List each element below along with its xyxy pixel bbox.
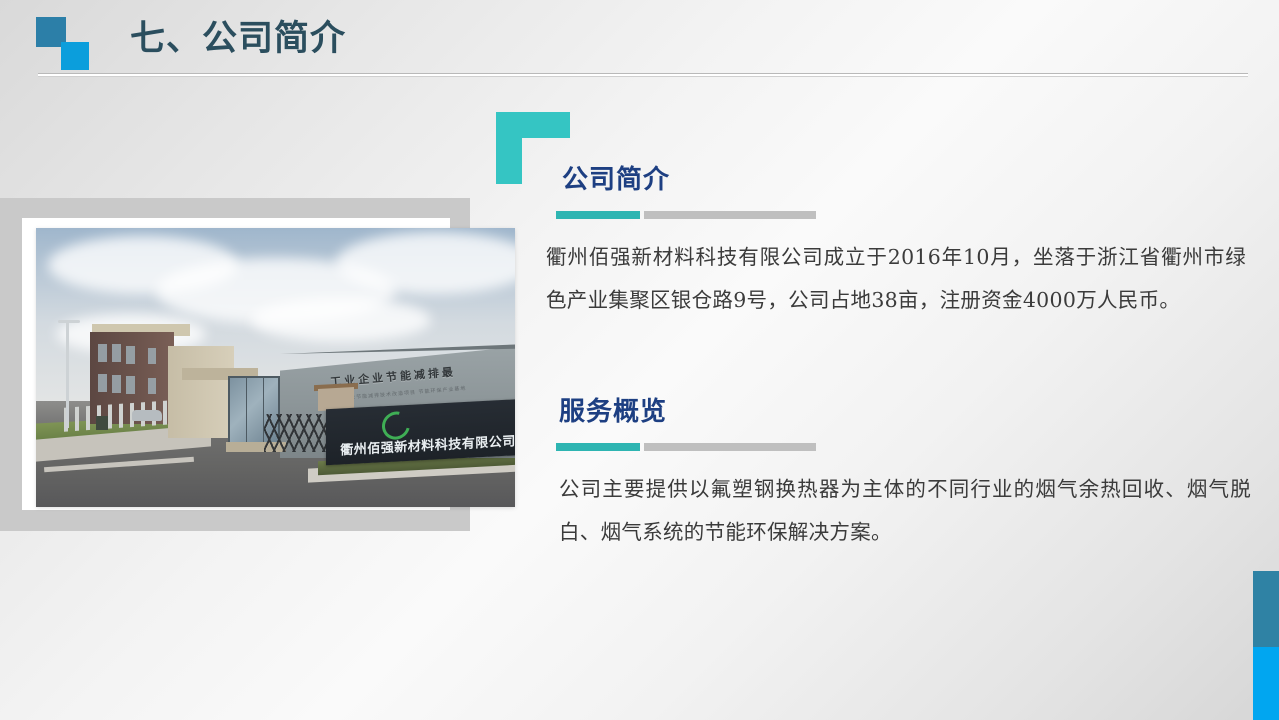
factory-photo: 工业企业节能减排最 工业企业节能减排技术改造项目 节能环保产业基地 衢州佰强新材… xyxy=(36,228,515,507)
divider-segment-teal xyxy=(556,443,640,451)
photo-window xyxy=(98,344,107,362)
photo-stone-facade xyxy=(168,346,234,438)
slide-canvas: 七、公司简介 工业企业节能减排最 工业企业节能减排技术改造项目 节能环保产业基地 xyxy=(0,0,1279,720)
photo-window xyxy=(148,378,156,394)
photo-window xyxy=(126,346,135,364)
divider-segment-teal xyxy=(556,211,640,219)
corner-bracket-vertical-icon xyxy=(496,112,522,184)
section-heading-company-profile: 公司简介 xyxy=(562,159,670,196)
photo-window xyxy=(148,348,156,364)
divider-segment-gray xyxy=(644,443,816,451)
photo-window xyxy=(112,344,121,362)
photo-bin xyxy=(96,416,108,430)
photo-sign-text: 衢州佰强新材料科技有限公司 xyxy=(336,430,515,459)
photo-window xyxy=(112,375,121,393)
header-square-bright-icon xyxy=(61,42,89,70)
photo-light-pole xyxy=(66,322,69,428)
header-divider-rule xyxy=(38,73,1248,77)
section-divider-2 xyxy=(556,443,816,451)
photo-sliding-gate xyxy=(264,414,334,452)
photo-cloud xyxy=(251,298,431,342)
photo-window xyxy=(98,374,107,392)
section-divider-1 xyxy=(556,211,816,219)
section-body-company-profile: 衢州佰强新材料科技有限公司成立于2016年10月，坐落于浙江省衢州市绿色产业集聚… xyxy=(546,236,1246,322)
accent-block-dark xyxy=(1253,571,1279,647)
photo-company-sign: 衢州佰强新材料科技有限公司 xyxy=(326,399,515,465)
section-heading-service-overview: 服务概览 xyxy=(559,391,667,428)
accent-block-bright xyxy=(1253,647,1279,720)
photo-window xyxy=(126,376,135,394)
section-body-service-overview: 公司主要提供以氟塑钢换热器为主体的不同行业的烟气余热回收、烟气脱白、烟气系统的节… xyxy=(559,468,1251,554)
page-title: 七、公司简介 xyxy=(130,16,346,62)
photo-car xyxy=(132,410,162,421)
divider-segment-gray xyxy=(644,211,816,219)
photo-light-pole-arm xyxy=(58,320,80,323)
